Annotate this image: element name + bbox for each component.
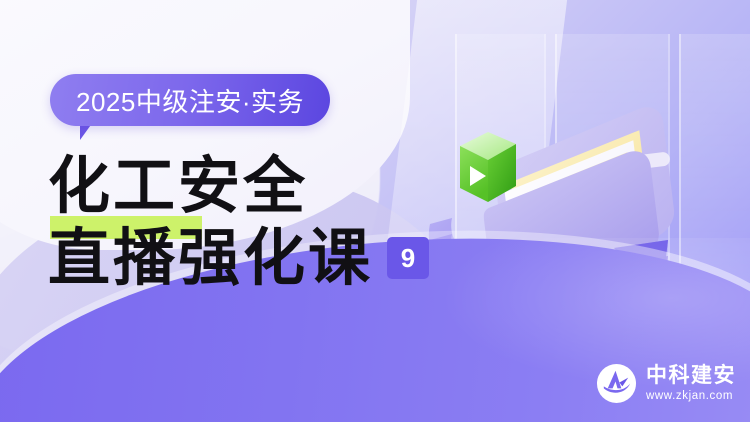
episode-number-badge: 9: [387, 237, 429, 279]
title-line-2: 直播强化课: [48, 222, 373, 294]
course-category-label: 2025中级注安·实务: [76, 82, 304, 119]
zkjan-emblem-icon: [596, 363, 637, 404]
brand-name: 中科建安: [646, 365, 736, 386]
brand-url: www.zkjan.com: [646, 391, 736, 403]
brand-logo-text: 中科建安 www.zkjan.com: [646, 365, 736, 403]
title-line-1: 化工安全: [48, 150, 429, 222]
brand-logo[interactable]: 中科建安 www.zkjan.com: [596, 363, 736, 404]
course-category-badge: 2025中级注安·实务: [50, 74, 330, 126]
title-line-2-row: 直播强化课 9: [48, 222, 429, 294]
page-title: 化工安全 直播强化课 9: [48, 150, 429, 294]
course-promo-banner: 2025中级注安·实务 化工安全 直播强化课 9 中科建安 www.zkjan.…: [0, 0, 750, 422]
